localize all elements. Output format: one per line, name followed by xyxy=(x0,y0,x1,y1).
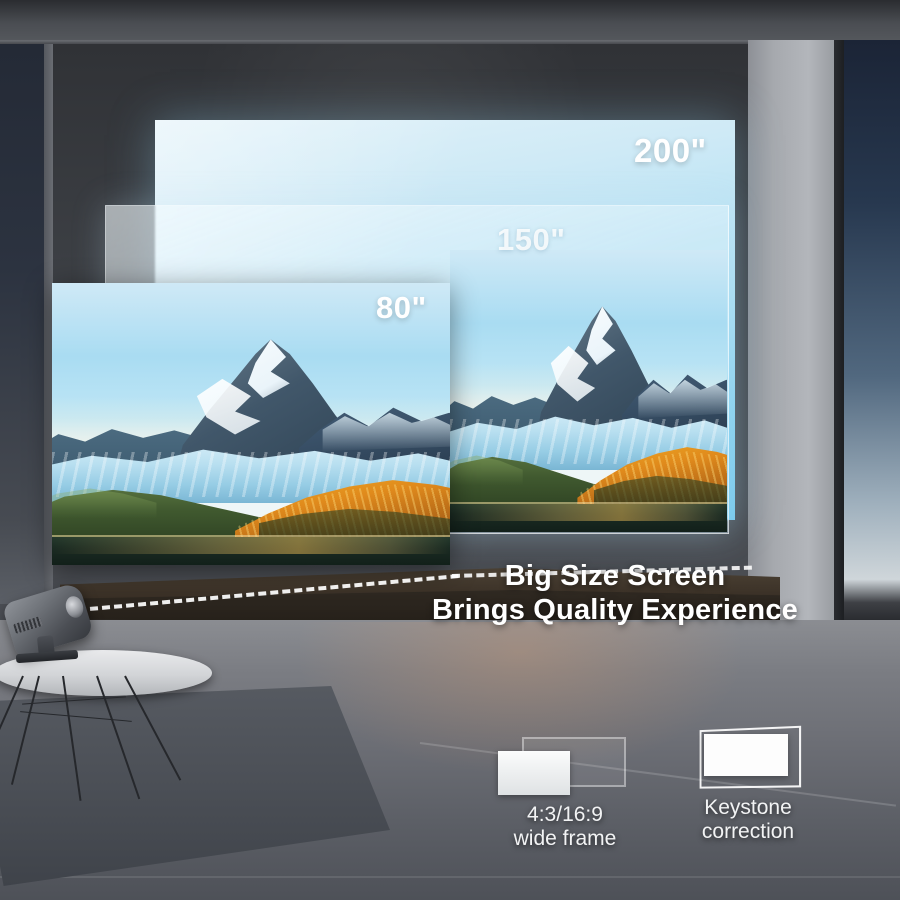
mountain-photo-150 xyxy=(450,250,727,532)
lake-reflection xyxy=(52,537,450,554)
floor-seam-front xyxy=(0,876,900,878)
headline-line-2: Brings Quality Experience xyxy=(380,594,850,628)
keystone-correction-icon xyxy=(668,728,828,790)
keystone-inner-screen xyxy=(704,734,788,776)
headline: Big Size Screen Brings Quality Experienc… xyxy=(380,560,850,628)
right-wall-column xyxy=(748,40,834,640)
ceiling xyxy=(0,0,900,42)
left-window-panel xyxy=(0,44,46,604)
size-label-80: 80" xyxy=(376,290,427,326)
headline-line-1: Big Size Screen xyxy=(380,560,850,594)
mountain-artwork xyxy=(450,250,727,532)
size-label-200: 200" xyxy=(634,132,707,170)
feature-label-line-2: correction xyxy=(668,820,828,844)
right-column-shadow xyxy=(834,40,844,640)
feature-keystone: Keystone correction xyxy=(668,728,828,843)
feature-aspect-ratio-label: 4:3/16:9 wide frame xyxy=(470,803,660,850)
feature-aspect-ratio: 4:3/16:9 wide frame xyxy=(470,735,660,850)
promo-scene: 200" 150" xyxy=(0,0,900,900)
frame-ratio-solid-rect xyxy=(498,751,570,795)
dusk-window xyxy=(844,40,900,620)
feature-keystone-label: Keystone correction xyxy=(668,796,828,843)
feature-label-line-1: Keystone xyxy=(668,796,828,820)
feature-label-line-2: wide frame xyxy=(470,827,660,851)
size-label-150: 150" xyxy=(497,222,565,258)
frame-ratio-icon xyxy=(470,735,660,797)
feature-label-line-1: 4:3/16:9 xyxy=(470,803,660,827)
lake-reflection xyxy=(450,504,727,521)
